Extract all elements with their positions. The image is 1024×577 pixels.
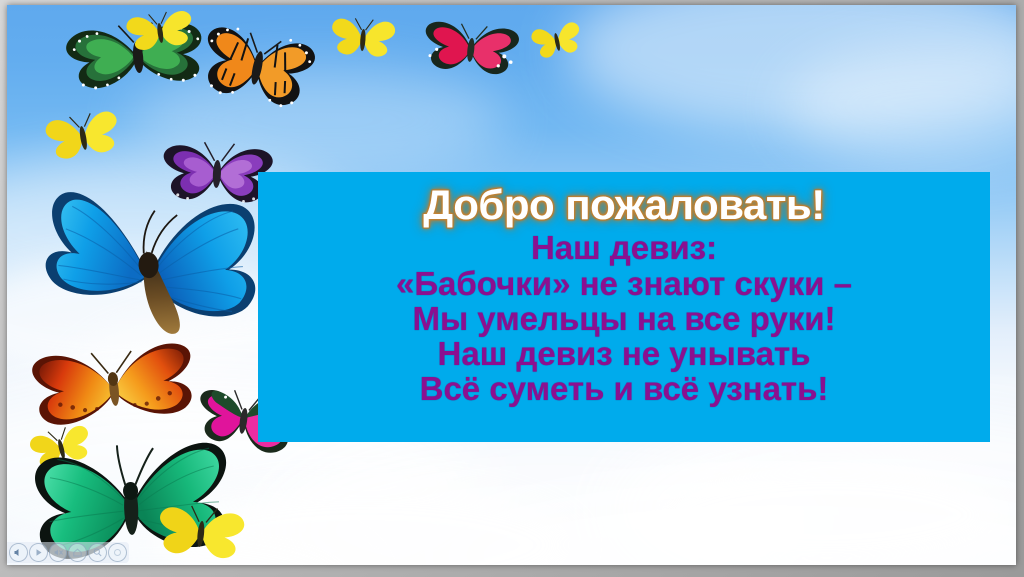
butterfly-yellow-small-upper [327,13,398,64]
page-title: Добро пожаловать! [423,183,824,227]
motto-line-5: Всё суметь и всё узнать! [420,372,829,407]
butterfly-crimson-pink-top [414,13,529,82]
motto-line-2: «Бабочки» не знают скуки – [396,267,852,302]
play-icon[interactable] [29,543,48,562]
motto-line-4: Наш девиз не унывать [438,337,811,372]
motto-line-3: Мы умельцы на все руки! [412,302,835,337]
slide-frame: Добро пожаловать! Наш девиз: «Бабочки» н… [0,0,1024,577]
player-toolbar[interactable] [7,542,129,563]
home-icon[interactable] [68,543,87,562]
motto-line-1: Наш девиз: [531,231,717,266]
search-icon[interactable] [88,543,107,562]
butterfly-yellow-bottom [152,498,250,565]
slide-photo-area: Добро пожаловать! Наш девиз: «Бабочки» н… [7,5,1016,565]
welcome-panel: Добро пожаловать! Наш девиз: «Бабочки» н… [258,172,990,442]
volume-icon[interactable] [9,543,28,562]
mute-icon[interactable] [49,543,68,562]
more-icon[interactable] [108,543,127,562]
